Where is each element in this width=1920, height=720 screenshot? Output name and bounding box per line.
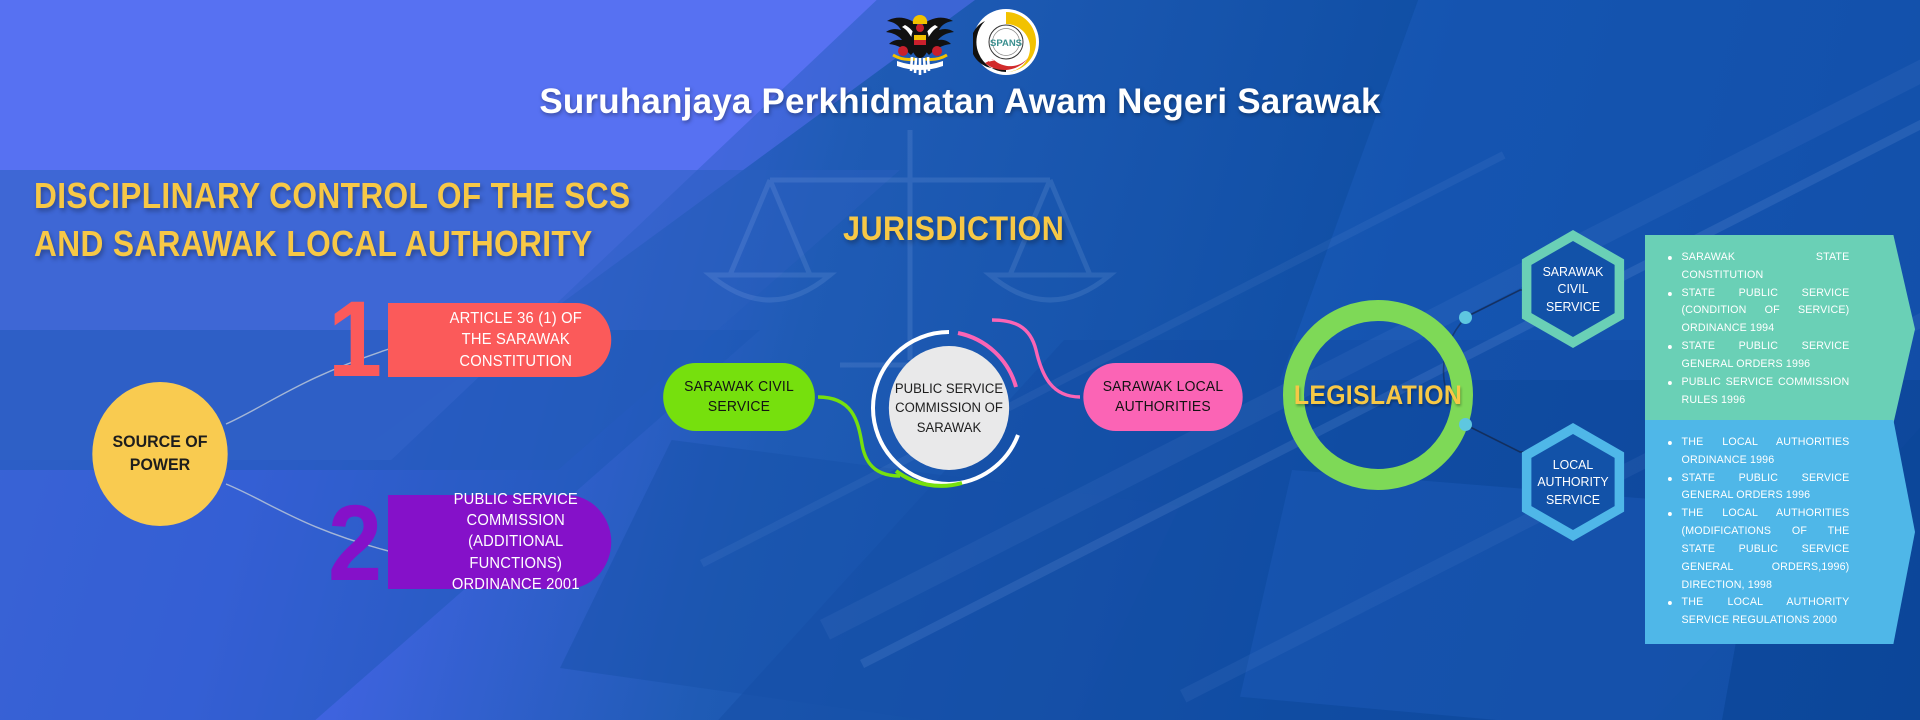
source-item-2-number: 2	[328, 489, 382, 597]
list-item: THE LOCAL AUTHORITY SERVICE REGULATIONS …	[1667, 594, 1849, 630]
source-item-2-label: PUBLIC SERVICE COMMISSION (ADDITIONAL FU…	[388, 495, 611, 589]
list-item: SARAWAK STATE CONSTITUTION	[1667, 249, 1849, 285]
page-title: DISCIPLINARY CONTROL OF THE SCS AND SARA…	[34, 172, 630, 267]
list-item: STATE PUBLIC SERVICE GENERAL ORDERS 1996	[1667, 470, 1849, 506]
source-item-1[interactable]: ARTICLE 36 (1) OF THE SARAWAK CONSTITUTI…	[328, 303, 623, 377]
legislation-branch-dot-bottom	[1459, 418, 1472, 431]
logo-group: SPANS	[881, 4, 1039, 80]
branch-hex-local-authority-service-label: LOCAL AUTHORITY SERVICE	[1531, 434, 1615, 530]
legislation-label: LEGISLATION	[1291, 300, 1466, 490]
list-item: STATE PUBLIC SERVICE (CONDITION OF SERVI…	[1667, 285, 1849, 338]
list-item: THE LOCAL AUTHORITIES (MODIFICATIONS OF …	[1667, 505, 1849, 594]
spans-logo-text: SPANS	[990, 38, 1022, 49]
spans-logo-icon: SPANS	[973, 9, 1039, 75]
list-item: STATE PUBLIC SERVICE GENERAL ORDERS 1996	[1667, 338, 1849, 374]
branch-list-local-authority-service: THE LOCAL AUTHORITIES ORDINANCE 1996 STA…	[1645, 420, 1915, 644]
source-of-power-node[interactable]: SOURCE OF POWER	[92, 382, 227, 526]
jurisdiction-section-title: JURISDICTION	[843, 210, 1064, 249]
center-node-label: PUBLIC SERVICE COMMISSION OF SARAWAK	[889, 346, 1009, 470]
legislation-branch-dot-top	[1459, 311, 1472, 324]
source-item-2[interactable]: PUBLIC SERVICE COMMISSION (ADDITIONAL FU…	[328, 495, 623, 589]
source-item-1-label: ARTICLE 36 (1) OF THE SARAWAK CONSTITUTI…	[388, 303, 611, 377]
legislation-node[interactable]: LEGISLATION	[1283, 300, 1473, 490]
branch-list-sarawak-civil-service: SARAWAK STATE CONSTITUTION STATE PUBLIC …	[1645, 235, 1915, 423]
page-header: SPANS Suruhanjaya Perkhidmatan Awam Nege…	[0, 0, 1920, 130]
jurisdiction-node-civil-service[interactable]: SARAWAK CIVIL SERVICE	[663, 363, 815, 431]
branch-hex-sarawak-civil-service-label: SARAWAK CIVIL SERVICE	[1531, 241, 1615, 337]
sarawak-state-crest-icon	[881, 5, 959, 79]
jurisdiction-center-node[interactable]: PUBLIC SERVICE COMMISSION OF SARAWAK	[866, 325, 1032, 491]
brand-title: Suruhanjaya Perkhidmatan Awam Negeri Sar…	[539, 82, 1380, 122]
source-item-1-number: 1	[328, 285, 382, 393]
infographic-canvas: SPANS Suruhanjaya Perkhidmatan Awam Nege…	[0, 0, 1920, 720]
list-item: THE LOCAL AUTHORITIES ORDINANCE 1996	[1667, 434, 1849, 470]
list-item: PUBLIC SERVICE COMMISSION RULES 1996	[1667, 374, 1849, 410]
jurisdiction-node-local-authorities[interactable]: SARAWAK LOCAL AUTHORITIES	[1083, 363, 1242, 431]
